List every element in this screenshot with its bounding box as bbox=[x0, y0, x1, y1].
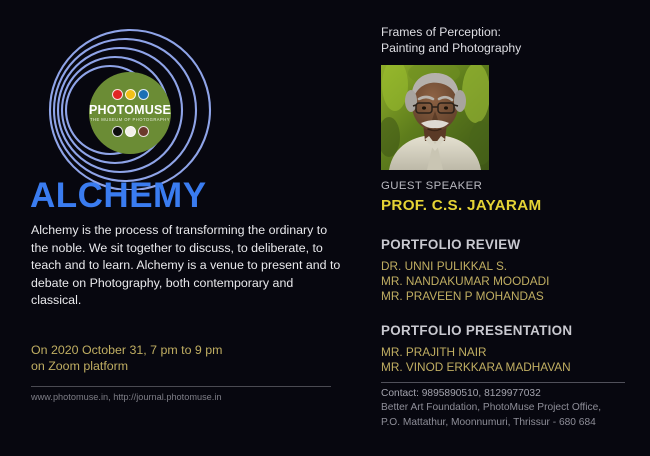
event-datetime-line-2: on Zoom platform bbox=[31, 358, 331, 374]
list-item: DR. UNNI PULIKKAL S. bbox=[381, 259, 549, 274]
page-title: ALCHEMY bbox=[30, 178, 207, 213]
guest-speaker-label: GUEST SPEAKER bbox=[381, 180, 482, 192]
event-datetime: On 2020 October 31, 7 pm to 9 pm on Zoom… bbox=[31, 342, 331, 374]
logo-dot-red bbox=[112, 89, 123, 100]
list-item: MR. PRAJITH NAIR bbox=[381, 345, 571, 360]
portfolio-review-names: DR. UNNI PULIKKAL S. MR. NANDAKUMAR MOOD… bbox=[381, 259, 549, 305]
contact-block: Contact: 9895890510, 8129977032 Better A… bbox=[381, 387, 629, 430]
series-title-line-1: Frames of Perception: bbox=[381, 24, 521, 40]
logo-dot-brown bbox=[138, 126, 149, 137]
speaker-portrait bbox=[381, 65, 489, 170]
logo-dot-blue bbox=[138, 89, 149, 100]
list-item: MR. NANDAKUMAR MOODADI bbox=[381, 274, 549, 289]
portfolio-review-heading: PORTFOLIO REVIEW bbox=[381, 237, 520, 252]
speaker-portrait-image bbox=[381, 65, 489, 170]
logo-wordmark: PHOTOMUSE bbox=[89, 104, 171, 117]
series-title: Frames of Perception: Painting and Photo… bbox=[381, 24, 521, 56]
logo-top-dots bbox=[112, 89, 149, 100]
contact-phone: Contact: 9895890510, 8129977032 bbox=[381, 387, 629, 401]
logo-tagline: THE MUSEUM OF PHOTOGRAPHY bbox=[90, 118, 170, 122]
logo-dot-white bbox=[125, 126, 136, 137]
guest-speaker-name: PROF. C.S. JAYARAM bbox=[381, 197, 541, 214]
website-links[interactable]: www.photomuse.in, http://journal.photomu… bbox=[31, 390, 222, 404]
left-divider bbox=[31, 386, 331, 387]
right-divider bbox=[381, 382, 625, 383]
photomuse-logo: PHOTOMUSE THE MUSEUM OF PHOTOGRAPHY bbox=[46, 26, 214, 190]
series-title-line-2: Painting and Photography bbox=[381, 40, 521, 56]
logo-dot-black bbox=[112, 126, 123, 137]
list-item: MR. VINOD ERKKARA MADHAVAN bbox=[381, 360, 571, 375]
right-column: Frames of Perception: Painting and Photo… bbox=[381, 0, 631, 456]
logo-bottom-dots bbox=[112, 126, 149, 137]
contact-address-line-1: Better Art Foundation, PhotoMuse Project… bbox=[381, 401, 629, 415]
contact-address-line-2: P.O. Mattathur, Moonnumuri, Thrissur - 6… bbox=[381, 416, 629, 430]
portfolio-presentation-names: MR. PRAJITH NAIR MR. VINOD ERKKARA MADHA… bbox=[381, 345, 571, 375]
logo-dot-yellow bbox=[125, 89, 136, 100]
list-item: MR. PRAVEEN P MOHANDAS bbox=[381, 289, 549, 304]
event-datetime-line-1: On 2020 October 31, 7 pm to 9 pm bbox=[31, 342, 331, 358]
logo-green-disc: PHOTOMUSE THE MUSEUM OF PHOTOGRAPHY bbox=[89, 72, 171, 154]
event-description: Alchemy is the process of transforming t… bbox=[31, 222, 341, 310]
portfolio-presentation-heading: PORTFOLIO PRESENTATION bbox=[381, 323, 572, 338]
event-poster: PHOTOMUSE THE MUSEUM OF PHOTOGRAPHY ALCH… bbox=[0, 0, 650, 456]
left-column: PHOTOMUSE THE MUSEUM OF PHOTOGRAPHY ALCH… bbox=[30, 0, 348, 456]
